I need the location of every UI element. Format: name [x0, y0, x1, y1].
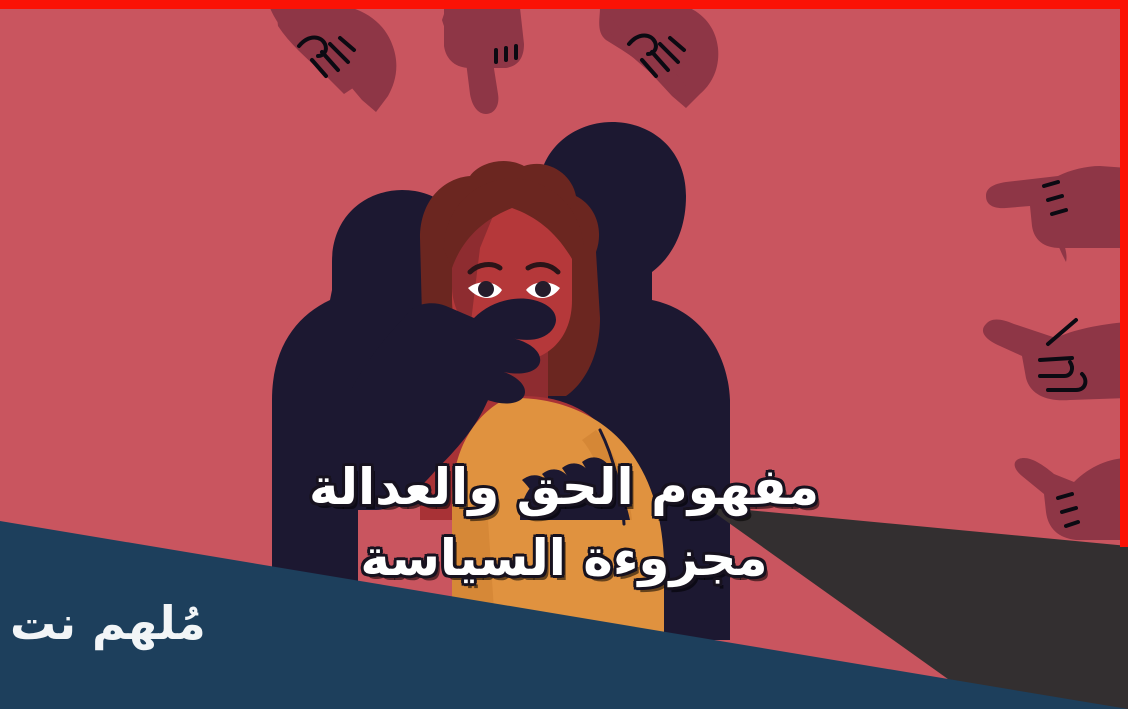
poster-canvas: مفهوم الحق والعدالة مجزوءة السياسة مُلهم…: [0, 0, 1128, 709]
site-logo: مُلهم نت: [10, 596, 206, 650]
right-accent-bar: [1120, 0, 1128, 547]
top-accent-bar: [0, 0, 1128, 9]
